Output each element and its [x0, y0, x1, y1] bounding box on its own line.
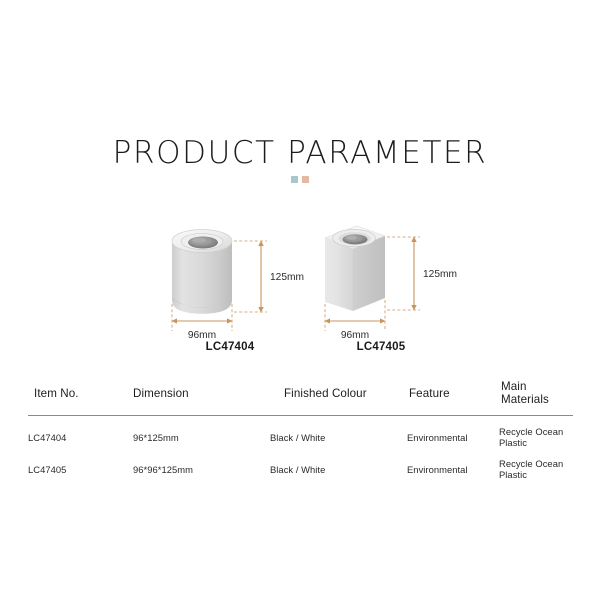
width-dimension-label: 96mm	[188, 330, 216, 341]
width-arrow-right	[227, 318, 233, 323]
product-code-label-2: LC47405	[281, 341, 481, 353]
cell-item-no: LC47405	[28, 450, 133, 482]
column-header-main-materials: Main Materials	[499, 380, 573, 416]
table-row: LC47404 96*125mm Black / White Environme…	[28, 416, 573, 451]
title-accent-squares	[0, 176, 600, 183]
page-header: PRODUCT PARAMETER	[0, 134, 600, 183]
cell-main-materials: Recycle Ocean Plastic	[499, 450, 573, 482]
cell-dimension: 96*125mm	[133, 416, 270, 451]
specification-table: Item No. Dimension Finished Colour Featu…	[28, 380, 573, 482]
column-header-feature: Feature	[407, 380, 499, 416]
square-front-face	[325, 238, 353, 311]
cell-item-no: LC47404	[28, 416, 133, 451]
cell-feature: Environmental	[407, 416, 499, 451]
product-figures: 125mm 96mm LC47404	[0, 214, 600, 364]
column-header-item-no: Item No.	[28, 380, 133, 416]
column-header-dimension: Dimension	[133, 380, 270, 416]
height-dimension-square: 125mm	[387, 237, 457, 311]
cell-finished-colour: Black / White	[270, 416, 407, 451]
product-figure-square: 125mm 96mm LC47405	[281, 214, 481, 364]
height-dimension-label: 125mm	[423, 269, 457, 280]
width-dimension-label: 96mm	[341, 330, 369, 341]
square-side-face	[353, 236, 385, 311]
page-title: PRODUCT PARAMETER	[0, 134, 600, 172]
table-row: LC47405 96*96*125mm Black / White Enviro…	[28, 450, 573, 482]
square-lamp-drawing: 125mm 96mm	[281, 214, 481, 342]
cell-main-materials: Recycle Ocean Plastic	[499, 416, 573, 451]
column-header-finished-colour: Finished Colour	[270, 380, 407, 416]
cell-dimension: 96*96*125mm	[133, 450, 270, 482]
table-header-row: Item No. Dimension Finished Colour Featu…	[28, 380, 573, 416]
salmon-square-icon	[302, 176, 309, 183]
width-arrow-left	[325, 318, 331, 323]
teal-square-icon	[291, 176, 298, 183]
cell-finished-colour: Black / White	[270, 450, 407, 482]
width-arrow-left	[172, 318, 178, 323]
cell-feature: Environmental	[407, 450, 499, 482]
